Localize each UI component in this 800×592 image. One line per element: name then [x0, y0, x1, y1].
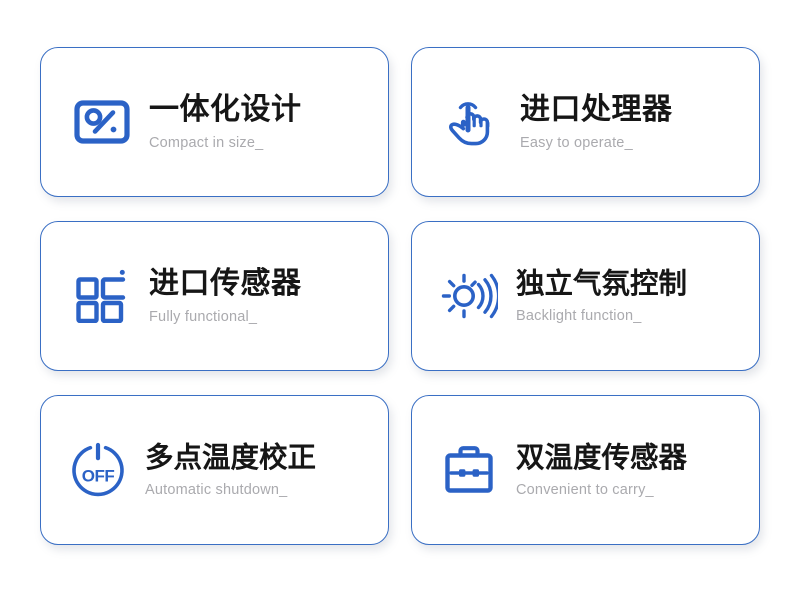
percent-screen-icon	[71, 91, 133, 153]
svg-text:OFF: OFF	[82, 467, 115, 486]
power-off-icon: OFF	[67, 439, 129, 501]
card-title: 进口处理器	[520, 94, 673, 126]
grid-squares-icon	[71, 265, 133, 327]
card-title: 双温度传感器	[516, 442, 687, 473]
card-text: 独立气氛控制 Backlight function_	[516, 266, 687, 325]
card-title: 多点温度校正	[145, 442, 316, 473]
card-text: 一体化设计 Compact in size_	[149, 92, 302, 153]
toolbox-icon	[438, 439, 500, 501]
feature-card-compact-size[interactable]: 一体化设计 Compact in size_	[40, 47, 389, 197]
card-text: 进口处理器 Easy to operate_	[520, 92, 673, 153]
feature-card-auto-shutdown[interactable]: OFF 多点温度校正 Automatic shutdown_	[40, 395, 389, 545]
feature-card-easy-operate[interactable]: 进口处理器 Easy to operate_	[411, 47, 760, 197]
card-title: 进口传感器	[149, 268, 302, 300]
card-title: 一体化设计	[149, 94, 302, 126]
feature-grid: 一体化设计 Compact in size_ 进口处理器 Easy to op	[0, 0, 800, 592]
tap-hand-icon	[442, 91, 504, 153]
feature-card-fully-functional[interactable]: 进口传感器 Fully functional_	[40, 221, 389, 371]
card-title: 独立气氛控制	[516, 268, 687, 299]
card-subtitle: Fully functional_	[149, 309, 302, 326]
card-text: 进口传感器 Fully functional_	[149, 266, 302, 327]
card-text: 双温度传感器 Convenient to carry_	[516, 440, 687, 499]
card-subtitle: Easy to operate_	[520, 135, 673, 152]
card-subtitle: Automatic shutdown_	[145, 482, 316, 499]
card-subtitle: Backlight function_	[516, 308, 687, 325]
feature-card-convenient-carry[interactable]: 双温度传感器 Convenient to carry_	[411, 395, 760, 545]
card-subtitle: Convenient to carry_	[516, 482, 687, 499]
feature-card-backlight[interactable]: 独立气氛控制 Backlight function_	[411, 221, 760, 371]
sun-signal-icon	[438, 265, 500, 327]
card-subtitle: Compact in size_	[149, 135, 302, 152]
card-text: 多点温度校正 Automatic shutdown_	[145, 440, 316, 499]
